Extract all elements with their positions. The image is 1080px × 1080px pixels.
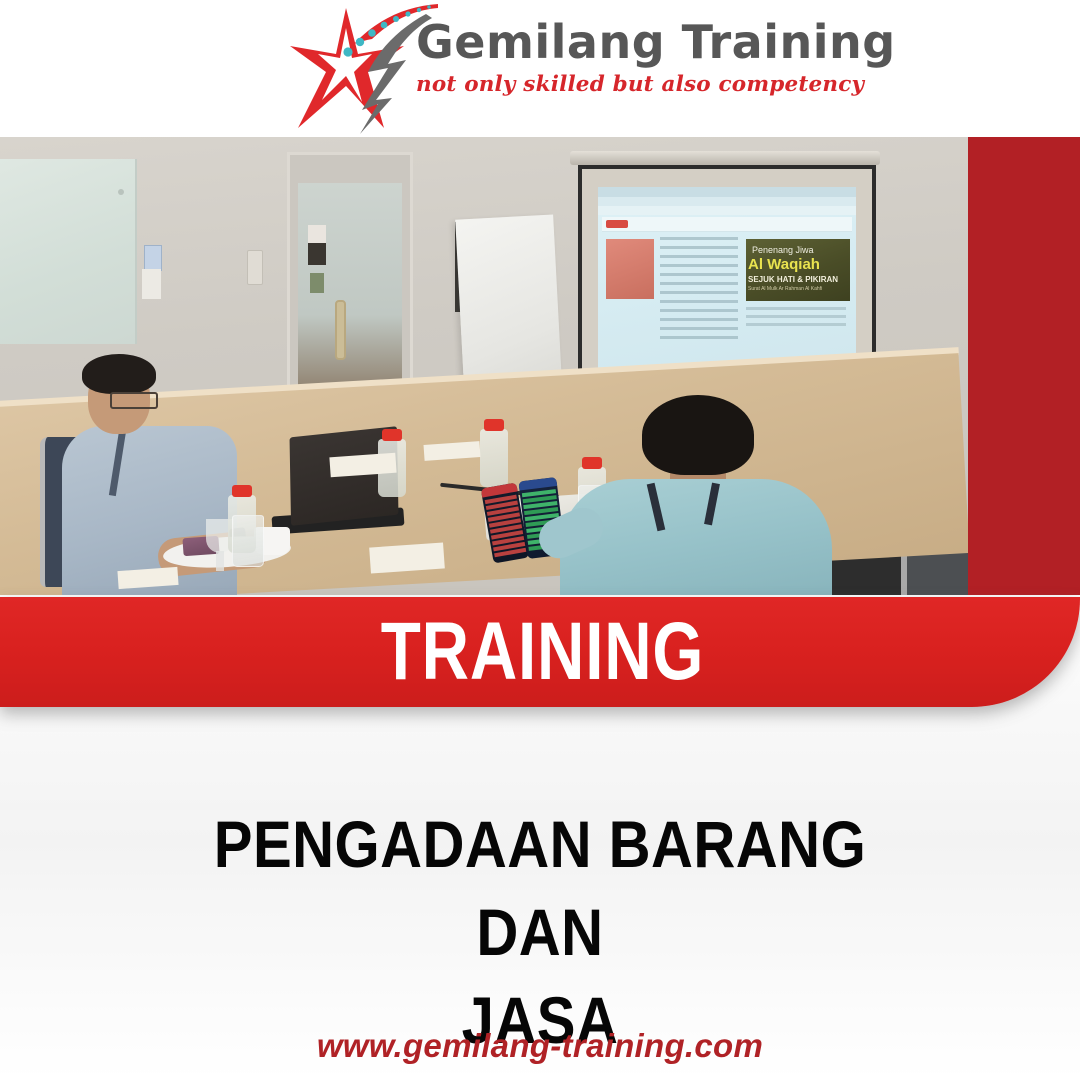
logo-company-name: Gemilang Training	[416, 14, 808, 70]
whiteboard	[0, 159, 137, 344]
website-url[interactable]: www.gemilang-training.com	[0, 1027, 1080, 1065]
logo-text-block: Gemilang Training not only skilled but a…	[416, 14, 808, 98]
youtube-video-description	[746, 307, 846, 331]
training-classroom-photo: Penenang Jiwa Al Waqiah SEJUK HATI & PIK…	[0, 137, 968, 595]
thumbnail-line-2: Al Waqiah	[748, 256, 820, 273]
drinking-glass	[232, 515, 264, 567]
page-title-line-1: PENGADAAN BARANG DAN	[144, 800, 936, 976]
youtube-menu-list	[660, 237, 738, 357]
training-banner: TRAINING	[0, 597, 1080, 707]
door-handle	[335, 300, 346, 360]
page-title: PENGADAAN BARANG DAN JASA	[90, 800, 990, 1064]
eyeglasses-icon	[110, 392, 158, 409]
youtube-logo-icon	[606, 220, 628, 228]
thumbnail-line-3: SEJUK HATI & PIKIRAN	[748, 275, 838, 284]
banner-label: TRAINING	[109, 597, 977, 707]
youtube-header	[602, 217, 852, 232]
thumbnail-line-4: Surat Al Mulk Ar Rahman Al Kahfi	[748, 286, 822, 292]
wall-notice	[142, 269, 161, 299]
promotional-poster: Gemilang Training not only skilled but a…	[0, 0, 1080, 1080]
thumbnail-line-1: Penenang Jiwa	[752, 245, 814, 255]
youtube-side-thumbnail	[606, 239, 654, 299]
header-bar: Gemilang Training not only skilled but a…	[0, 0, 1080, 137]
training-photo-band: Penenang Jiwa Al Waqiah SEJUK HATI & PIK…	[0, 137, 1080, 595]
projector-screen-roller	[570, 151, 880, 165]
man-right-hair	[642, 395, 754, 475]
door-green-panel	[310, 273, 324, 293]
door-dark-panel	[308, 243, 326, 265]
light-switch	[247, 250, 263, 285]
wall-sign	[144, 245, 162, 271]
whiteboard-screw	[118, 189, 124, 195]
door-sign	[308, 225, 326, 243]
brand-logo[interactable]: Gemilang Training not only skilled but a…	[288, 2, 808, 134]
paper-note	[369, 542, 445, 573]
browser-tab-bar	[598, 197, 856, 206]
man-left-hair	[82, 354, 156, 394]
water-bottle	[480, 429, 508, 487]
logo-tagline: not only skilled but also competency	[416, 72, 808, 98]
youtube-video-thumbnail: Penenang Jiwa Al Waqiah SEJUK HATI & PIK…	[746, 239, 850, 301]
man-in-blue-shirt-back-view	[560, 395, 835, 595]
browser-address-bar	[598, 206, 856, 215]
side-accent-band	[968, 137, 1080, 595]
